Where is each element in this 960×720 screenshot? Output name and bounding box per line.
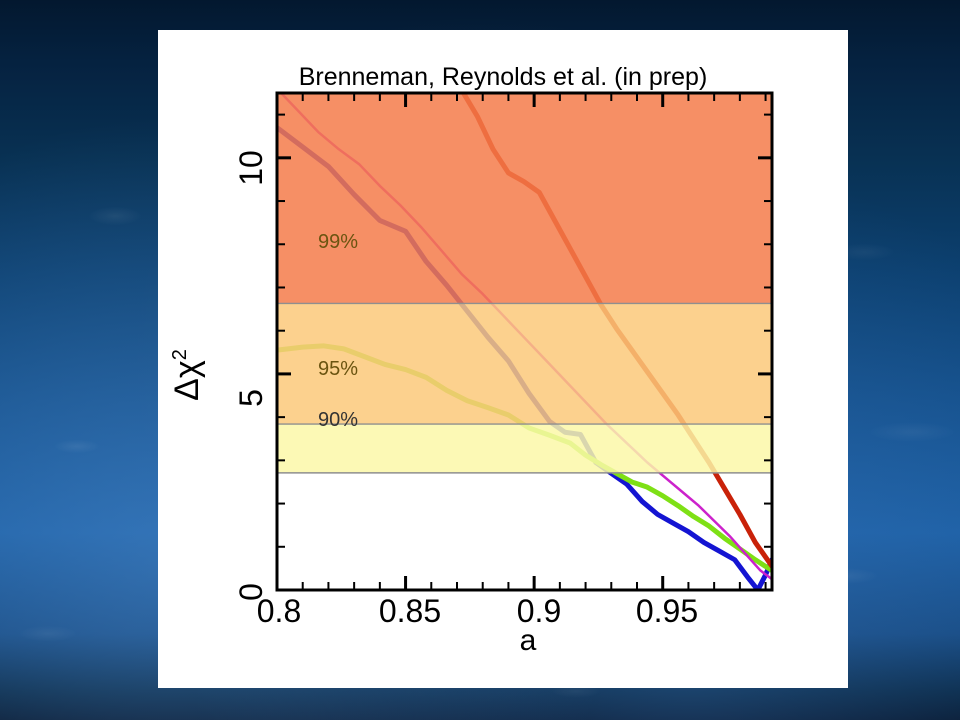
band-99 [277, 93, 772, 303]
y-tick-labels: 0 5 10 [233, 150, 269, 601]
y-tick-label-10: 10 [233, 150, 269, 186]
svg-text:Δχ2: Δχ2 [168, 349, 206, 401]
x-tick-label-0: 0.8 [257, 593, 301, 629]
band-90 [277, 424, 772, 473]
slide-content-box: Brenneman, Reynolds et al. (in prep) Δχ2… [158, 30, 848, 688]
chi-squared-plot: Brenneman, Reynolds et al. (in prep) Δχ2… [158, 30, 848, 688]
y-tick-label-5: 5 [233, 389, 269, 407]
band-label-99: 99% [318, 231, 358, 253]
plot-title: Brenneman, Reynolds et al. (in prep) [299, 63, 708, 91]
presentation-slide: Brenneman, Reynolds et al. (in prep) Δχ2… [0, 0, 960, 720]
x-tick-label-1: 0.85 [379, 593, 441, 629]
y-axis-label-exponent: 2 [169, 349, 191, 360]
y-axis-label-delta: Δ [168, 378, 206, 401]
x-tick-label-3: 0.95 [636, 593, 698, 629]
band-label-95: 95% [318, 358, 358, 380]
x-tick-label-2: 0.9 [517, 593, 561, 629]
band-label-90: 90% [318, 409, 358, 431]
y-axis-label: Δχ2 [168, 349, 206, 401]
y-axis-label-chi: χ [168, 360, 206, 378]
x-tick-labels: 0.8 0.85 0.9 0.95 [257, 593, 698, 629]
